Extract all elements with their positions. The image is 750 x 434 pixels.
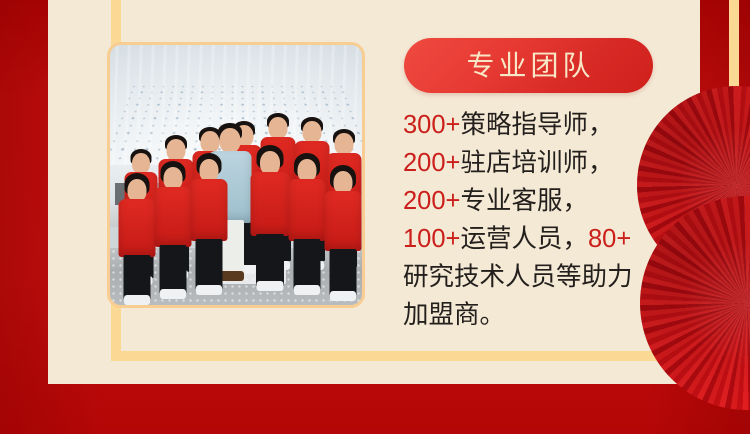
stat-label-3: 专业客服， xyxy=(460,187,588,215)
promo-banner: 专业团队 300+策略指导师， 200+驻店培训师， 200+专业客服， 100… xyxy=(0,0,750,434)
team-member xyxy=(154,135,192,289)
team-member xyxy=(324,137,362,289)
stat-label-6: 加盟商。 xyxy=(403,301,505,329)
stat-number-1: 300+ xyxy=(403,111,460,139)
stat-number-5: 80+ xyxy=(588,225,631,253)
stat-number-4: 100+ xyxy=(403,225,460,253)
team-member xyxy=(250,127,290,289)
section-badge: 专业团队 xyxy=(404,38,653,93)
stat-label-1: 策略指导师， xyxy=(460,111,613,139)
stat-label-5: 研究技术人员等助力 xyxy=(403,263,633,291)
team-members xyxy=(110,45,362,305)
team-member xyxy=(190,131,228,289)
folding-fan-icon xyxy=(640,196,750,410)
stat-number-3: 200+ xyxy=(403,187,460,215)
section-badge-label: 专业团队 xyxy=(462,52,594,80)
team-photo xyxy=(107,42,365,308)
team-member xyxy=(118,141,156,289)
stat-number-2: 200+ xyxy=(403,149,460,177)
stat-label-4: 运营人员， xyxy=(460,225,588,253)
stat-label-2: 驻店培训师， xyxy=(460,149,613,177)
stats-paragraph: 300+策略指导师， 200+驻店培训师， 200+专业客服， 100+运营人员… xyxy=(403,106,673,334)
team-member xyxy=(288,131,326,289)
team-photo-image xyxy=(110,45,362,305)
